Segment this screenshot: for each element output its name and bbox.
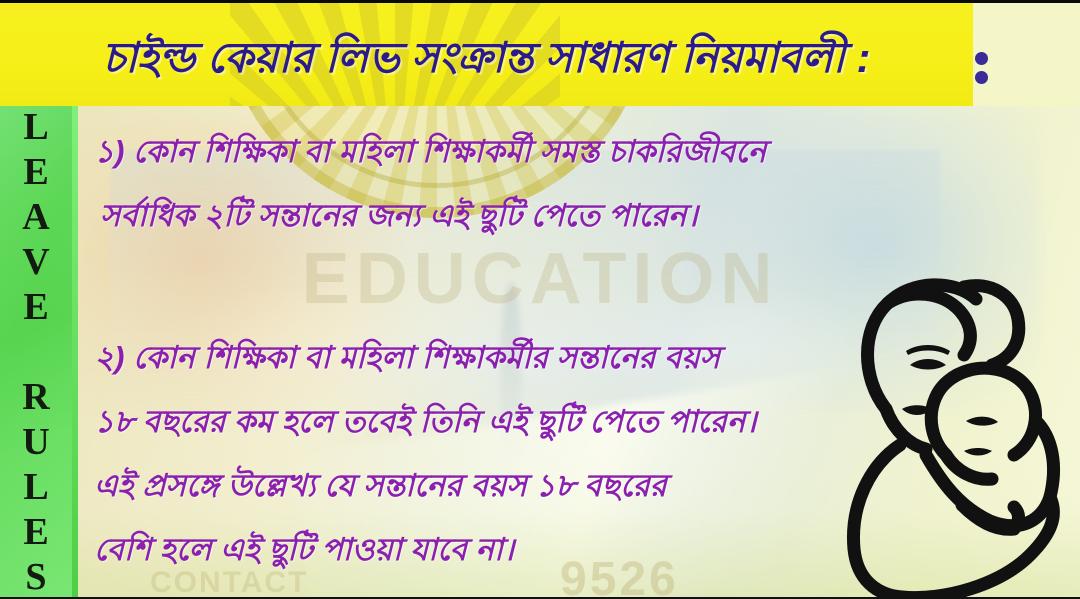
page-title: চাইল্ড কেয়ার লিভ সংক্রান্ত সাধারণ নিয়ম… xyxy=(0,0,973,106)
leave-rules-sidebar: L E A V E R U L E S xyxy=(0,106,72,599)
decorative-dot-lower xyxy=(975,71,988,84)
header-right-padding xyxy=(973,0,1080,106)
rule-2-line-3: এই প্রসঙ্গে উল্লেখ্য যে সন্তানের বয়স ১৮… xyxy=(94,470,667,501)
rules-content: ১) কোন শিক্ষিকা বা মহিলা শিক্ষাকর্মী সমস… xyxy=(86,112,986,599)
rule-1-line-1: ১) কোন শিক্ষিকা বা মহিলা শিক্ষাকর্মী সমস… xyxy=(94,136,766,167)
sidebar-vertical-label: L E A V E R U L E S xyxy=(22,105,49,599)
rule-2-line-1: ২) কোন শিক্ষিকা বা মহিলা শিক্ষাকর্মীর সন… xyxy=(94,342,720,373)
rule-2-line-4: বেশি হলে এই ছুটি পাওয়া যাবে না। xyxy=(94,534,514,565)
decorative-dot-upper xyxy=(975,52,988,65)
sidebar-edge-highlight xyxy=(72,106,78,599)
child-care-leave-rules-poster: EDUCATION CONTACT 9526 HO চাইল্ড কেয়ার … xyxy=(0,0,1080,599)
rule-2-line-2: ১৮ বছরের কম হলে তবেই তিনি এই ছুটি পেতে প… xyxy=(94,406,756,437)
top-border xyxy=(0,0,1080,3)
rule-1-line-2: সর্বাধিক ২টি সন্তানের জন্য এই ছুটি পেতে … xyxy=(100,200,698,231)
